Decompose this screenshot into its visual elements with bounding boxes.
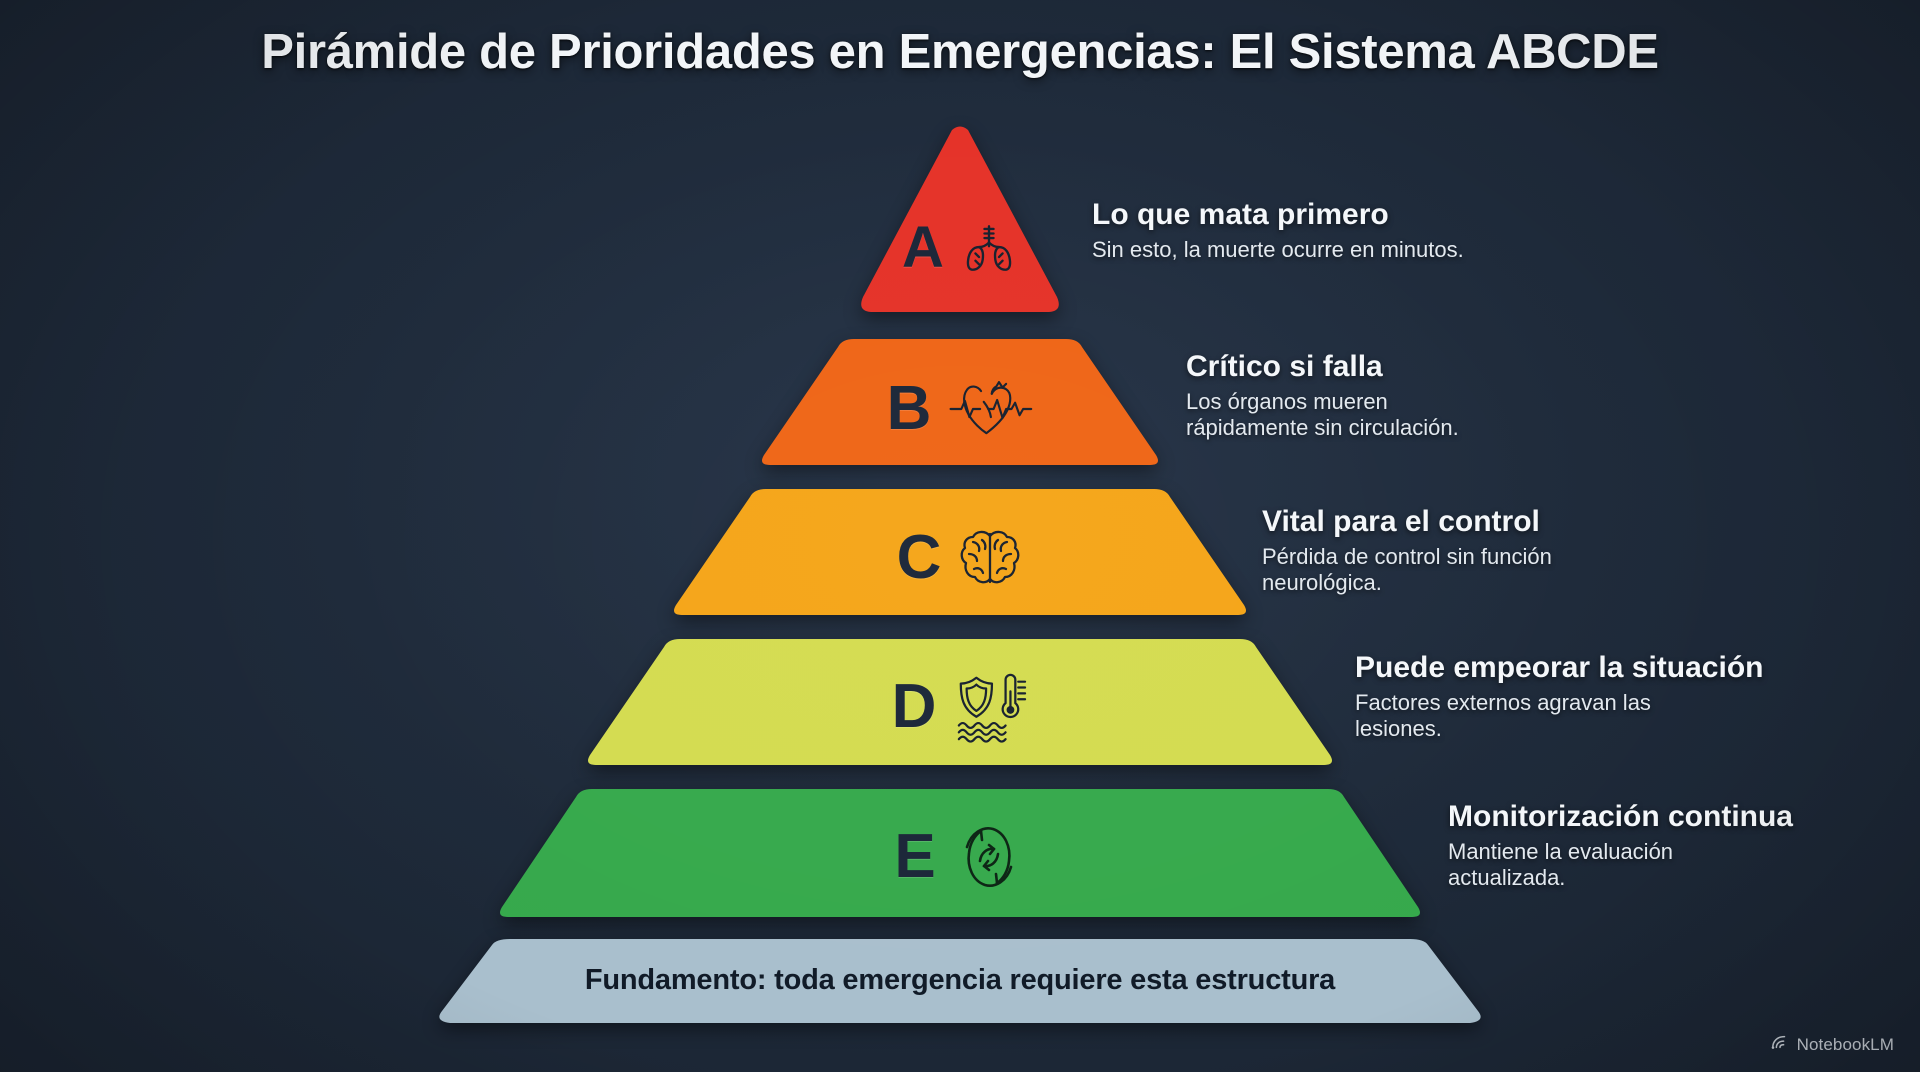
pyramid-tier-a[interactable]: A: [855, 120, 1065, 320]
annotation-c-desc: Pérdida de control sin función neurológi…: [1262, 544, 1592, 598]
annotation-b-title: Crítico si falla: [1186, 350, 1516, 384]
base-plate-label: Fundamento: toda emergencia requiere est…: [430, 937, 1490, 1029]
pyramid-tier-b[interactable]: B: [760, 337, 1160, 467]
pyramid-base-plate[interactable]: Fundamento: toda emergencia requiere est…: [430, 937, 1490, 1029]
tier-a-letter: A: [902, 219, 944, 277]
shield-thermometer-waves-icon: [952, 670, 1028, 744]
notebooklm-watermark: NotebookLM: [1770, 1033, 1894, 1056]
pyramid-tier-c[interactable]: C: [672, 487, 1248, 617]
pyramid-tier-e[interactable]: E: [498, 787, 1422, 919]
annotation-d-title: Puede empeorar la situación: [1355, 651, 1763, 685]
annotation-e-desc: Mantiene la evaluación actualizada.: [1448, 839, 1778, 893]
heart-ecg-icon: [947, 378, 1033, 440]
annotation-b-desc: Los órganos mueren rápidamente sin circu…: [1186, 389, 1516, 443]
annotation-e-title: Monitorización continua: [1448, 800, 1793, 834]
annotation-tier-b: Crítico si falla Los órganos mueren rápi…: [1186, 350, 1516, 442]
slide-canvas: Pirámide de Prioridades en Emergencias: …: [0, 0, 1920, 1072]
tier-c-letter: C: [897, 527, 942, 589]
tier-d-letter: D: [892, 676, 937, 738]
annotation-a-title: Lo que mata primero: [1092, 198, 1464, 232]
annotation-tier-e: Monitorización continua Mantiene la eval…: [1448, 800, 1793, 892]
annotation-a-desc: Sin esto, la muerte ocurre en minutos.: [1092, 237, 1464, 264]
pyramid-diagram: A: [0, 0, 1920, 1072]
tier-b-letter: B: [887, 378, 932, 440]
pyramid-tier-d[interactable]: D: [586, 637, 1334, 767]
brain-icon: [957, 527, 1023, 589]
lungs-icon: [960, 219, 1018, 277]
notebooklm-label: NotebookLM: [1797, 1035, 1894, 1055]
annotation-d-desc: Factores externos agravan las lesiones.: [1355, 690, 1685, 744]
notebooklm-icon: [1770, 1033, 1790, 1056]
annotation-tier-a: Lo que mata primero Sin esto, la muerte …: [1092, 198, 1464, 263]
annotation-tier-d: Puede empeorar la situación Factores ext…: [1355, 651, 1763, 743]
tier-e-letter: E: [894, 826, 935, 888]
annotation-tier-c: Vital para el control Pérdida de control…: [1262, 505, 1592, 597]
annotation-c-title: Vital para el control: [1262, 505, 1592, 539]
refresh-cycle-icon: [952, 821, 1026, 893]
